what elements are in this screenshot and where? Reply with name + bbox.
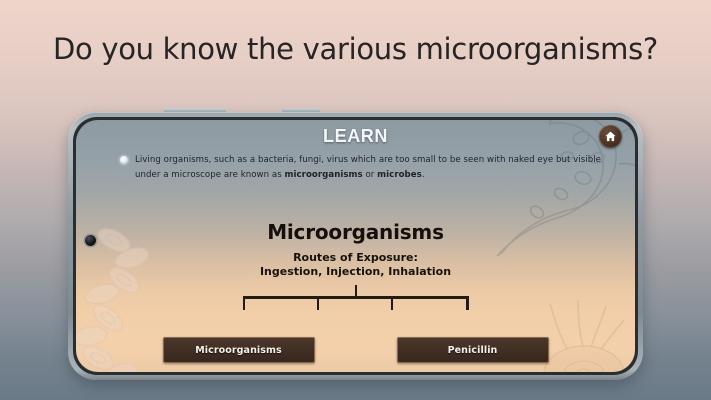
info-text-bold-microorganisms: microorganisms [285, 170, 363, 180]
volume-button[interactable] [164, 108, 226, 112]
tree-branch-tick [466, 296, 469, 310]
answer-button-microorganisms[interactable]: Microorganisms [163, 337, 315, 363]
routes-block: Routes of Exposure: Ingestion, Injection… [76, 251, 635, 279]
info-text-part3: . [422, 170, 425, 180]
info-paragraph: Living organisms, such as a bacteria, fu… [135, 153, 615, 183]
power-button[interactable] [282, 108, 320, 112]
app-header-title: LEARN [76, 126, 635, 147]
routes-values: Ingestion, Injection, Inhalation [76, 265, 635, 279]
branch-tree-diagram [243, 285, 469, 315]
info-text-bold-microbes: microbes [377, 170, 422, 180]
home-button[interactable] [599, 125, 622, 148]
front-camera-lens [85, 235, 96, 246]
phone-device: LEARN Living organisms, such as a bacter… [68, 112, 643, 380]
phone-bezel: LEARN Living organisms, such as a bacter… [73, 117, 638, 375]
info-text-part2: or [363, 170, 377, 180]
tree-branch-tick [391, 296, 394, 310]
tree-branch-tick [317, 296, 320, 310]
diagram-heading: Microorganisms [76, 220, 635, 244]
home-icon [604, 130, 617, 143]
tree-branch-tick [243, 296, 246, 310]
app-screen: LEARN Living organisms, such as a bacter… [76, 120, 635, 372]
info-bullet-row: Living organisms, such as a bacteria, fu… [120, 153, 615, 183]
tree-horizontal-bar [243, 296, 469, 299]
diagram-area: Microorganisms Routes of Exposure: Inges… [76, 220, 635, 315]
bullet-dot-icon [120, 156, 128, 164]
page-title: Do you know the various microorganisms? [0, 32, 711, 66]
answer-options: Microorganisms Penicillin [76, 337, 635, 363]
answer-button-penicillin[interactable]: Penicillin [397, 337, 549, 363]
routes-label: Routes of Exposure: [76, 251, 635, 265]
